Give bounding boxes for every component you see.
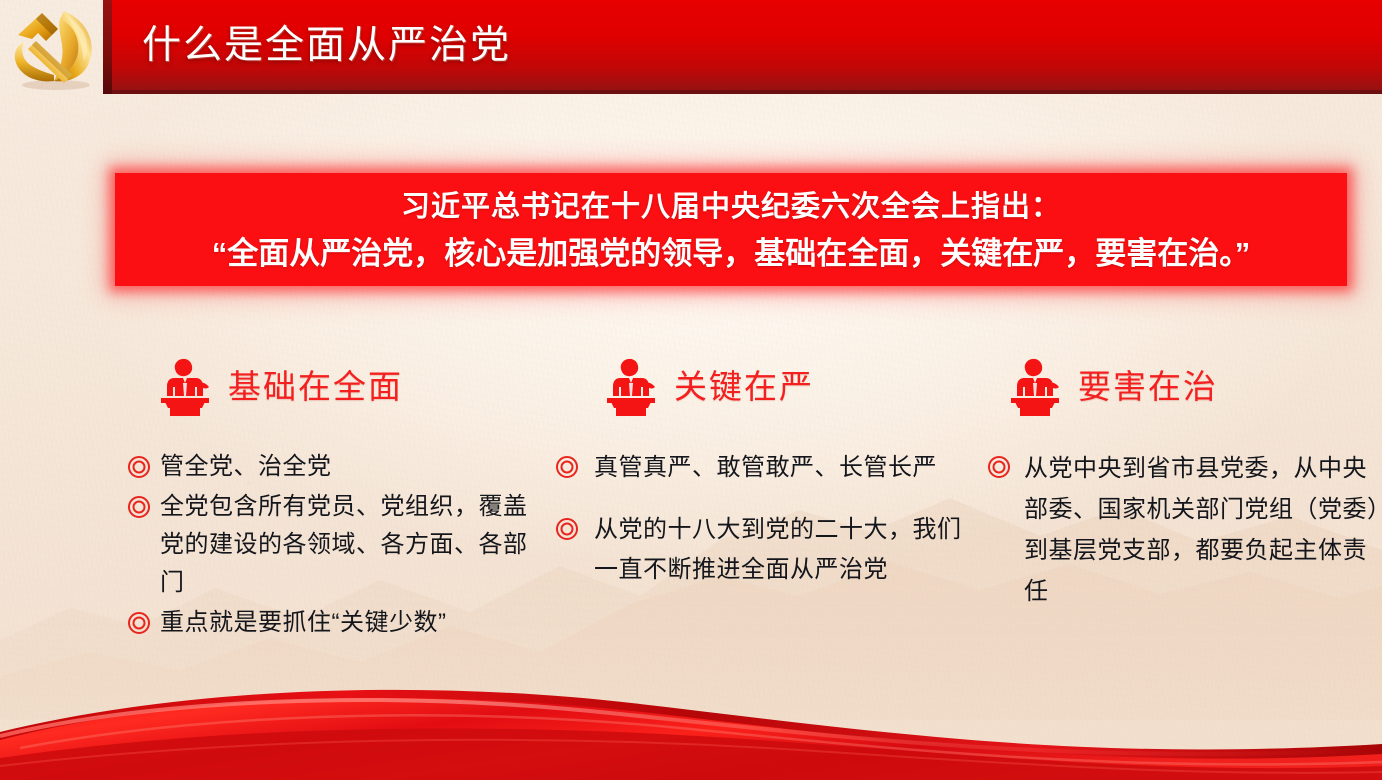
bullet-text: 管全党、治全党 (160, 448, 332, 486)
double-circle-bullet-icon (128, 612, 150, 634)
bullet-text: 从党中央到省市县党委，从中央部委、国家机关部门党组（党委）到基层党支部，都要负起… (1024, 448, 1382, 612)
column-key-in-strictness: 关键在严 真管真严、敢管敢严、长管长严 从党的十八大到党的二十大，我们一直不断推… (556, 348, 976, 612)
quote-body-line: “全面从严治党，核心是加强党的领导，基础在全面，关键在严，要害在治。” (212, 230, 1251, 278)
speaker-podium-icon (1006, 356, 1064, 418)
slide-canvas: 什么是全面从严治党 习近平总书记在十八届中央纪委六次全会上指出： “全面从严治党… (0, 0, 1382, 780)
list-item: 重点就是要抓住“关键少数” (128, 604, 548, 642)
column-title: 关键在严 (674, 367, 814, 407)
speaker-podium-icon (156, 356, 214, 418)
column-header: 要害在治 (988, 348, 1382, 426)
quote-source-line: 习近平总书记在十八届中央纪委六次全会上指出： (401, 184, 1061, 230)
list-item: 从党中央到省市县党委，从中央部委、国家机关部门党组（党委）到基层党支部，都要负起… (988, 448, 1382, 612)
bullet-text: 真管真严、敢管敢严、长管长严 (594, 448, 937, 488)
slide-header: 什么是全面从严治党 (0, 0, 1382, 94)
column-header: 基础在全面 (128, 348, 548, 426)
quote-banner: 习近平总书记在十八届中央纪委六次全会上指出： “全面从严治党，核心是加强党的领导… (115, 173, 1347, 286)
double-circle-bullet-icon (556, 456, 578, 478)
list-item: 全党包含所有党员、党组织，覆盖党的建设的各领域、各方面、各部门 (128, 488, 548, 602)
double-circle-bullet-icon (128, 456, 150, 478)
page-title: 什么是全面从严治党 (142, 22, 511, 70)
bullet-text: 重点就是要抓住“关键少数” (160, 604, 446, 642)
double-circle-bullet-icon (556, 518, 578, 540)
party-emblem-icon (2, 1, 106, 93)
column-title: 基础在全面 (228, 367, 403, 407)
column-title: 要害在治 (1078, 367, 1218, 407)
bullet-text: 全党包含所有党员、党组织，覆盖党的建设的各领域、各方面、各部门 (160, 488, 548, 602)
bullet-list: 管全党、治全党 全党包含所有党员、党组织，覆盖党的建设的各领域、各方面、各部门 … (128, 448, 548, 642)
list-item: 从党的十八大到党的二十大，我们一直不断推进全面从严治党 (556, 510, 976, 590)
column-crux-in-governance: 要害在治 从党中央到省市县党委，从中央部委、国家机关部门党组（党委）到基层党支部… (988, 348, 1382, 614)
bullet-list: 从党中央到省市县党委，从中央部委、国家机关部门党组（党委）到基层党支部，都要负起… (988, 448, 1382, 612)
three-column-content: 基础在全面 管全党、治全党 全党包含所有党员、党组织，覆盖党的建设的各领域、各方… (0, 348, 1382, 698)
list-item: 真管真严、敢管敢严、长管长严 (556, 448, 976, 488)
bullet-list: 真管真严、敢管敢严、长管长严 从党的十八大到党的二十大，我们一直不断推进全面从严… (556, 448, 976, 590)
column-header: 关键在严 (556, 348, 976, 426)
double-circle-bullet-icon (988, 456, 1010, 478)
column-basis-in-comprehensive: 基础在全面 管全党、治全党 全党包含所有党员、党组织，覆盖党的建设的各领域、各方… (128, 348, 548, 644)
bullet-text: 从党的十八大到党的二十大，我们一直不断推进全面从严治党 (594, 510, 976, 590)
double-circle-bullet-icon (128, 496, 150, 518)
speaker-podium-icon (602, 356, 660, 418)
list-item: 管全党、治全党 (128, 448, 548, 486)
